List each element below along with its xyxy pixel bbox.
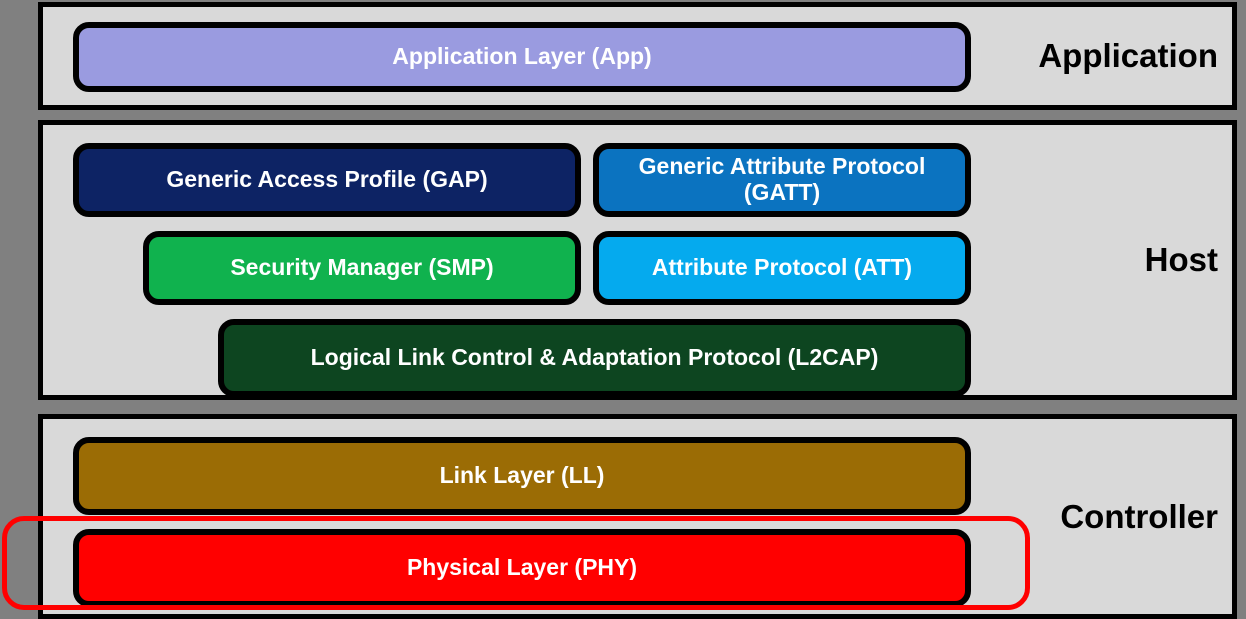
layer-label-app: Application Layer (App) xyxy=(392,44,651,70)
ble-protocol-stack-diagram: Application Layer (App) Application Gene… xyxy=(0,0,1246,619)
section-panel-application: Application Layer (App) Application xyxy=(38,2,1237,110)
layer-label-gap: Generic Access Profile (GAP) xyxy=(166,167,487,193)
section-label-application: Application xyxy=(998,7,1218,105)
layer-label-att: Attribute Protocol (ATT) xyxy=(652,255,912,281)
layer-box-app[interactable]: Application Layer (App) xyxy=(73,22,971,92)
layer-box-ll[interactable]: Link Layer (LL) xyxy=(73,437,971,515)
layer-box-phy[interactable]: Physical Layer (PHY) xyxy=(73,529,971,607)
layer-label-phy: Physical Layer (PHY) xyxy=(407,555,637,581)
section-panel-controller: Link Layer (LL) Physical Layer (PHY) Con… xyxy=(38,414,1237,619)
layer-label-ll: Link Layer (LL) xyxy=(440,463,605,489)
layer-box-l2cap[interactable]: Logical Link Control & Adaptation Protoc… xyxy=(218,319,971,397)
section-panel-host: Generic Access Profile (GAP) Generic Att… xyxy=(38,120,1237,400)
layer-box-gatt[interactable]: Generic Attribute Protocol (GATT) xyxy=(593,143,971,217)
layer-label-smp: Security Manager (SMP) xyxy=(230,255,493,281)
left-gutter xyxy=(0,0,38,619)
layer-box-smp[interactable]: Security Manager (SMP) xyxy=(143,231,581,305)
layer-box-att[interactable]: Attribute Protocol (ATT) xyxy=(593,231,971,305)
layer-box-gap[interactable]: Generic Access Profile (GAP) xyxy=(73,143,581,217)
section-label-controller: Controller xyxy=(998,419,1218,614)
section-label-host: Host xyxy=(998,125,1218,395)
layer-label-gatt: Generic Attribute Protocol (GATT) xyxy=(609,154,955,206)
layer-label-l2cap: Logical Link Control & Adaptation Protoc… xyxy=(311,345,879,371)
